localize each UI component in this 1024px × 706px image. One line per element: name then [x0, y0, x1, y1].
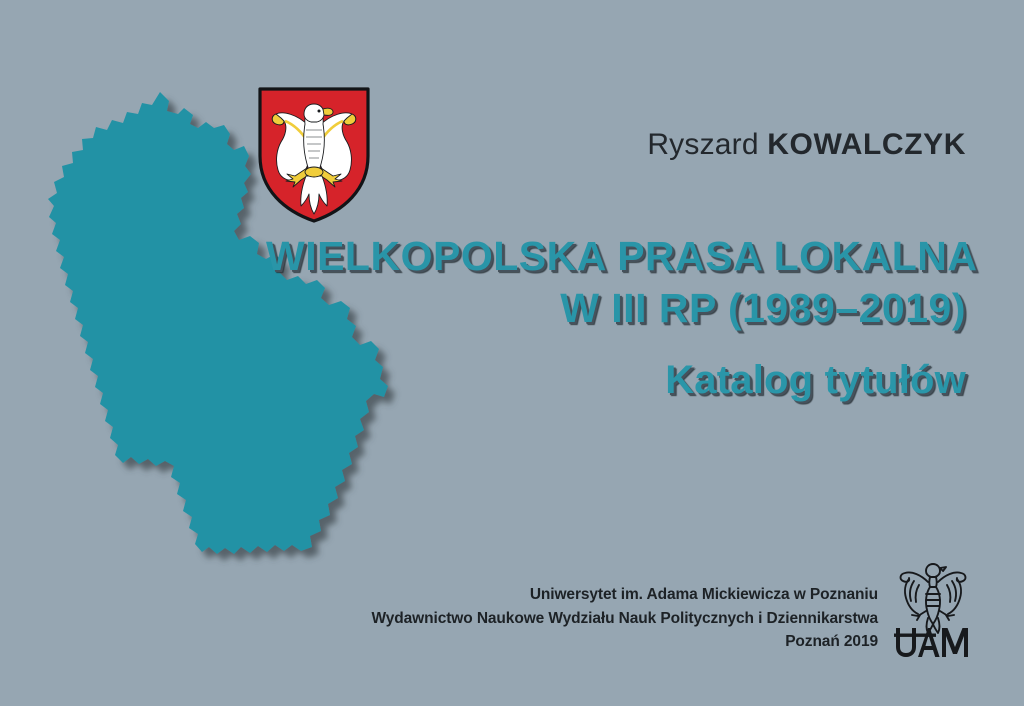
author-given-name: Ryszard	[647, 128, 767, 161]
uam-eagle-icon	[901, 564, 966, 633]
author-name: Ryszard KOWALCZYK	[647, 128, 966, 162]
wielkopolska-coat-of-arms	[255, 84, 373, 226]
book-cover: Ryszard KOWALCZYK WIELKOPOLSKA PRASA LOK…	[0, 0, 1024, 706]
imprint-block: Uniwersytet im. Adama Mickiewicza w Pozn…	[372, 583, 878, 654]
title-block: WIELKOPOLSKA PRASA LOKALNA W III RP (198…	[266, 236, 966, 400]
imprint-line-publisher-faculty: Wydawnictwo Naukowe Wydziału Nauk Polity…	[372, 607, 878, 631]
author-family-name: KOWALCZYK	[767, 128, 966, 161]
subtitle: Katalog tytułów	[266, 360, 966, 400]
uam-wordmark	[894, 628, 968, 657]
imprint-line-publisher-university: Uniwersytet im. Adama Mickiewicza w Pozn…	[372, 583, 878, 607]
title-line-2: W III RP (1989–2019)	[266, 288, 966, 329]
imprint-line-place-year: Poznań 2019	[372, 630, 878, 654]
uam-logo	[890, 558, 976, 660]
title-line-1: WIELKOPOLSKA PRASA LOKALNA	[266, 236, 966, 277]
